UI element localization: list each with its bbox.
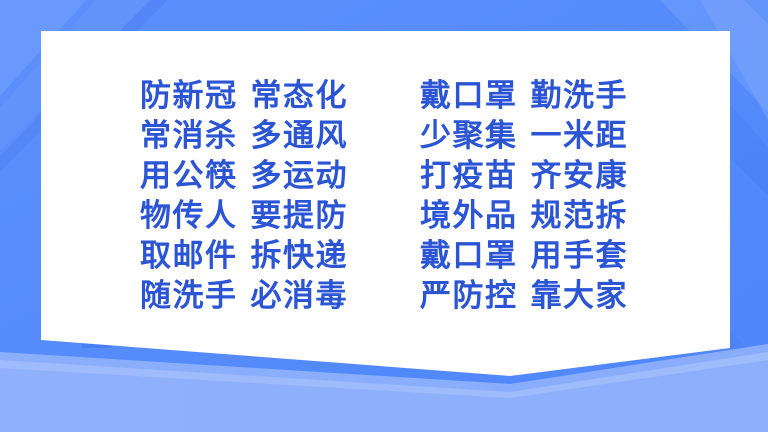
poster-root: 防新冠常态化 常消杀多通风 用公筷多运动 物传人要提防 取邮件拆快递 随洗手必消… (0, 0, 768, 432)
white-panel-shape (41, 31, 730, 376)
white-panel (0, 0, 768, 432)
